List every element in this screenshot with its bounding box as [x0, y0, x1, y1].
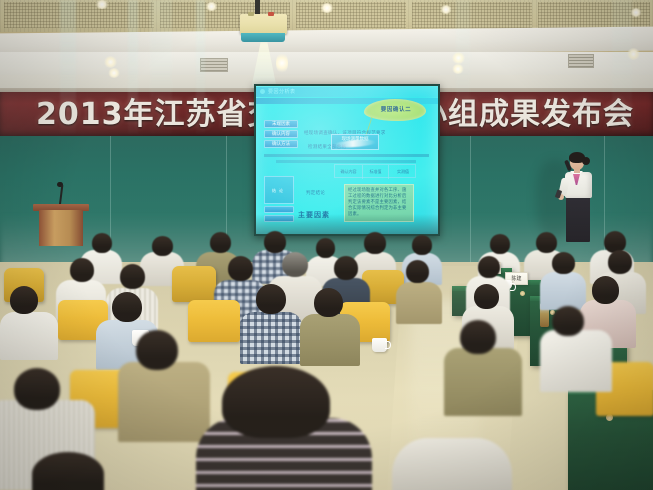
- projection-screen: 要因分析表 要因确认二 末端因素 确认内容 确认方法 经现场调查确认，该项目符合…: [256, 86, 438, 234]
- auditorium-chair: [172, 266, 216, 302]
- ceiling-downlight: [104, 56, 117, 68]
- ceiling-vent-grille: [568, 54, 594, 68]
- wall-reflection: [196, 0, 205, 134]
- slide-paragraph-row: [276, 160, 416, 163]
- slide-table-header: 确认内容: [335, 165, 363, 179]
- slide-logo-icon: [260, 89, 265, 94]
- projector-lens: [241, 33, 285, 42]
- slide-paragraph-row: [264, 154, 429, 157]
- slide-table-header: 标准值: [363, 165, 389, 179]
- wall-reflection: [612, 0, 632, 134]
- ceiling-downlight: [276, 52, 288, 74]
- projector-knob: [268, 12, 274, 16]
- slide-left-box-4: [264, 206, 294, 213]
- conference-hall-photo: 2013年江苏省交 小组成果发布会 要因分析表 要因确认二 末端因素 确认内容 …: [0, 0, 653, 490]
- screen-shadow: [256, 214, 438, 234]
- slide-left-panel: 结论: [264, 176, 294, 204]
- banner-text-right: 小组成果发布会: [417, 96, 634, 134]
- presenter-hair-bun: [582, 157, 590, 165]
- wall-reflection: [128, 0, 138, 134]
- wall-reflection: [60, 0, 76, 134]
- slide-title: 要因分析表: [268, 88, 296, 95]
- ceiling-downlight: [440, 5, 452, 14]
- ceiling-downlight: [95, 0, 109, 9]
- wall-reflection: [456, 0, 470, 134]
- ceiling-downlight: [108, 68, 120, 78]
- wall-reflection: [150, 0, 172, 134]
- ceiling-tile-panel: [412, 2, 532, 28]
- slide-left-box-1: 末端因素: [264, 120, 298, 128]
- ceiling-downlight: [205, 2, 218, 11]
- ceiling-projector[interactable]: [240, 14, 287, 34]
- speaker-podium: [39, 210, 83, 246]
- ceiling-downlight: [320, 3, 334, 13]
- slide-left-box-2: 确认内容: [264, 130, 298, 138]
- slide-left-box-3: 确认方法: [264, 140, 298, 148]
- presenter-skirt: [566, 196, 590, 242]
- ceiling-tile-panel: [296, 2, 406, 28]
- slide-table-header: 实测值: [389, 165, 417, 179]
- slide-cloud-label: 要因确认二: [369, 105, 423, 113]
- projector-knob: [248, 12, 254, 16]
- slide-data-table: 确认内容 标准值 实测值: [334, 164, 416, 178]
- auditorium-chair: [188, 300, 240, 342]
- tea-cup: [372, 338, 387, 352]
- table-button: [520, 291, 525, 296]
- slide-text-line-3: 判定结论: [306, 190, 325, 196]
